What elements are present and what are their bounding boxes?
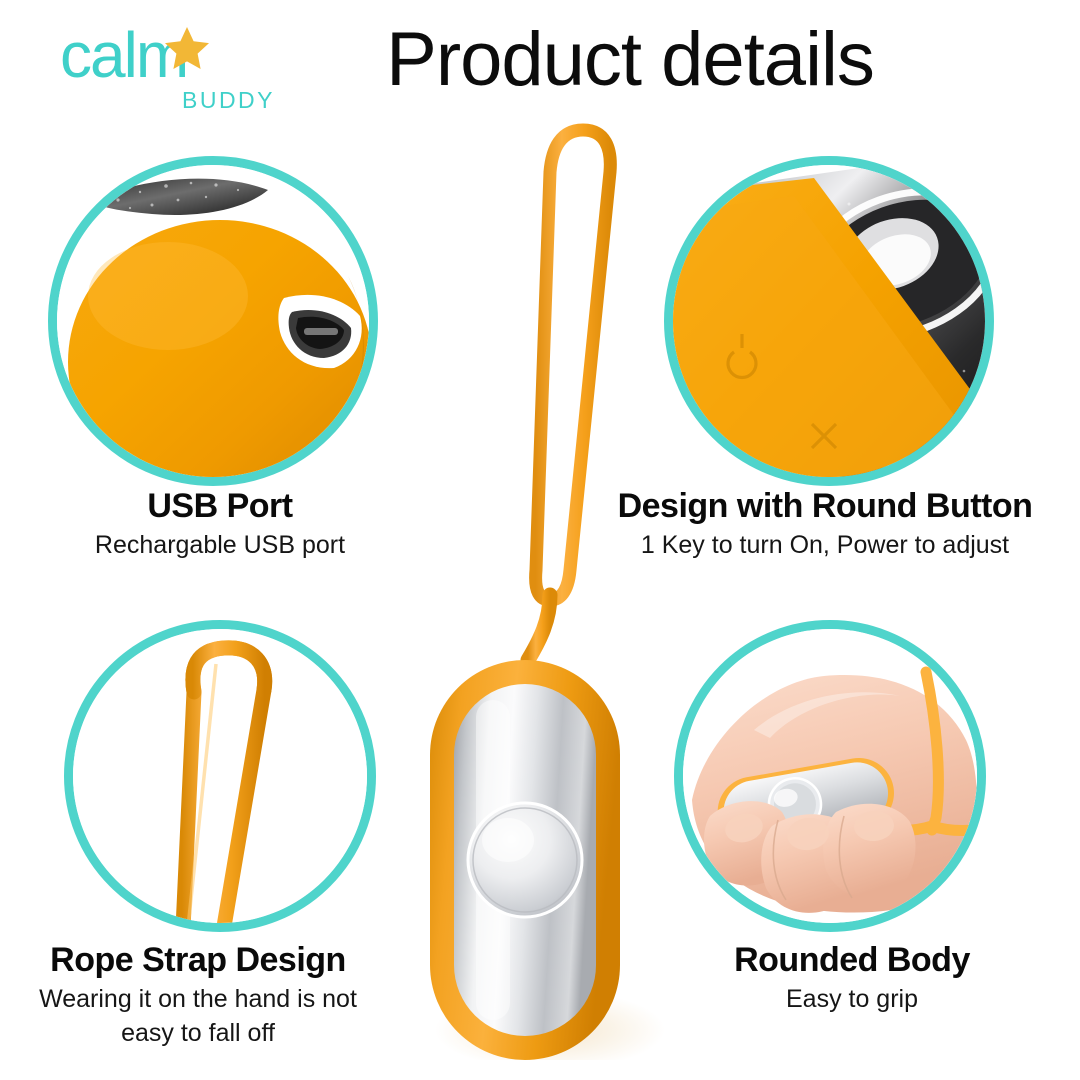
caption-subtitle-rounded-body: Easy to grip bbox=[652, 982, 1052, 1016]
usb-port-photo bbox=[48, 156, 378, 486]
feature-image-round-button bbox=[664, 156, 994, 486]
star-icon bbox=[164, 26, 210, 70]
caption-round-button: Design with Round Button 1 Key to turn O… bbox=[570, 484, 1080, 562]
caption-title-rounded-body: Rounded Body bbox=[652, 938, 1052, 982]
brand-logo: calm BUDDY bbox=[52, 14, 252, 110]
round-button-photo bbox=[664, 156, 994, 486]
caption-title-rope-strap: Rope Strap Design bbox=[0, 938, 398, 982]
feature-image-usb-port bbox=[48, 156, 378, 486]
caption-usb-port: USB Port Rechargable USB port bbox=[30, 484, 410, 562]
hand-holding-device-photo bbox=[674, 620, 986, 932]
rope-strap-photo bbox=[64, 620, 376, 932]
caption-title-usb-port: USB Port bbox=[30, 484, 410, 528]
caption-subtitle-usb-port: Rechargable USB port bbox=[30, 528, 410, 562]
caption-subtitle-round-button: 1 Key to turn On, Power to adjust bbox=[570, 528, 1080, 562]
caption-subtitle-rope-strap-line1: Wearing it on the hand is not bbox=[0, 982, 398, 1016]
product-hero-image bbox=[400, 100, 690, 1060]
feature-image-rounded-body bbox=[674, 620, 986, 932]
feature-image-rope-strap bbox=[64, 620, 376, 932]
caption-rope-strap: Rope Strap Design Wearing it on the hand… bbox=[0, 938, 398, 1050]
brand-name-sub: BUDDY bbox=[182, 88, 275, 112]
caption-subtitle-rope-strap-line2: easy to fall off bbox=[0, 1016, 398, 1050]
caption-title-round-button: Design with Round Button bbox=[570, 484, 1080, 528]
page-title: Product details bbox=[300, 12, 960, 108]
caption-rounded-body: Rounded Body Easy to grip bbox=[652, 938, 1052, 1016]
